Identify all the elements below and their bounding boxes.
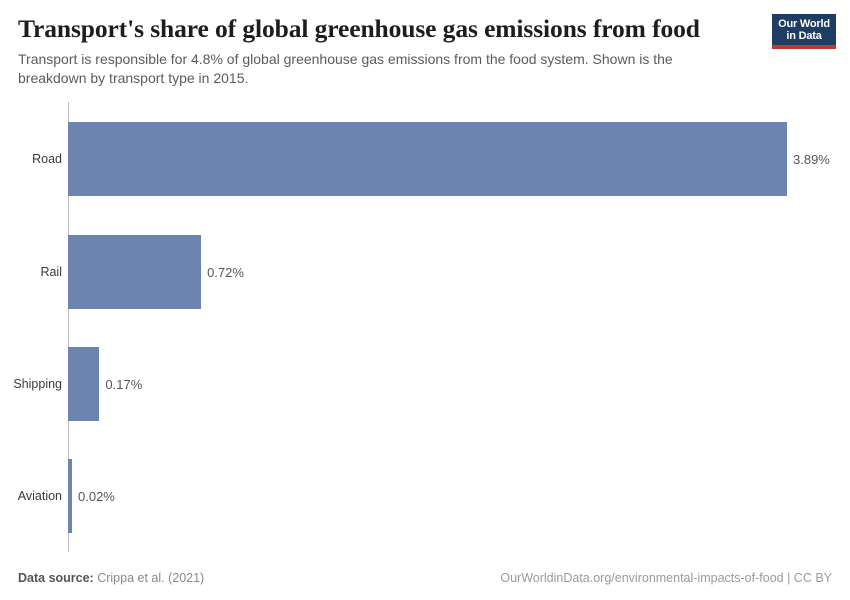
data-source-value: Crippa et al. (2021) <box>97 571 204 585</box>
category-label-road: Road <box>0 122 62 196</box>
category-label-rail: Rail <box>0 235 62 309</box>
data-source-label: Data source: <box>18 571 94 585</box>
value-label-rail: 0.72% <box>201 235 244 309</box>
value-label-shipping: 0.17% <box>99 347 142 421</box>
bar-row: Shipping 0.17% <box>0 347 850 421</box>
value-label-road: 3.89% <box>787 122 830 196</box>
page-title: Transport's share of global greenhouse g… <box>18 14 832 44</box>
category-label-aviation: Aviation <box>0 459 62 533</box>
value-label-aviation: 0.02% <box>72 459 115 533</box>
bar-rail[interactable] <box>68 235 201 309</box>
bar-row: Aviation 0.02% <box>0 459 850 533</box>
attribution-link[interactable]: OurWorldinData.org/environmental-impacts… <box>500 571 832 585</box>
bar-chart: Road 3.89% Rail 0.72% Shipping 0.17% Avi… <box>0 100 850 552</box>
bar-row: Road 3.89% <box>0 122 850 196</box>
chart-footer: Data source: Crippa et al. (2021) OurWor… <box>0 556 850 600</box>
bar-road[interactable] <box>68 122 787 196</box>
data-source: Data source: Crippa et al. (2021) <box>18 571 204 585</box>
bar-row: Rail 0.72% <box>0 235 850 309</box>
chart-header: Transport's share of global greenhouse g… <box>0 0 850 88</box>
logo-line-2: in Data <box>776 30 832 42</box>
bar-shipping[interactable] <box>68 347 99 421</box>
chart-subtitle: Transport is responsible for 4.8% of glo… <box>18 50 718 88</box>
logo-line-1: Our World <box>776 18 832 30</box>
our-world-in-data-logo[interactable]: Our World in Data <box>772 14 836 49</box>
category-label-shipping: Shipping <box>0 347 62 421</box>
